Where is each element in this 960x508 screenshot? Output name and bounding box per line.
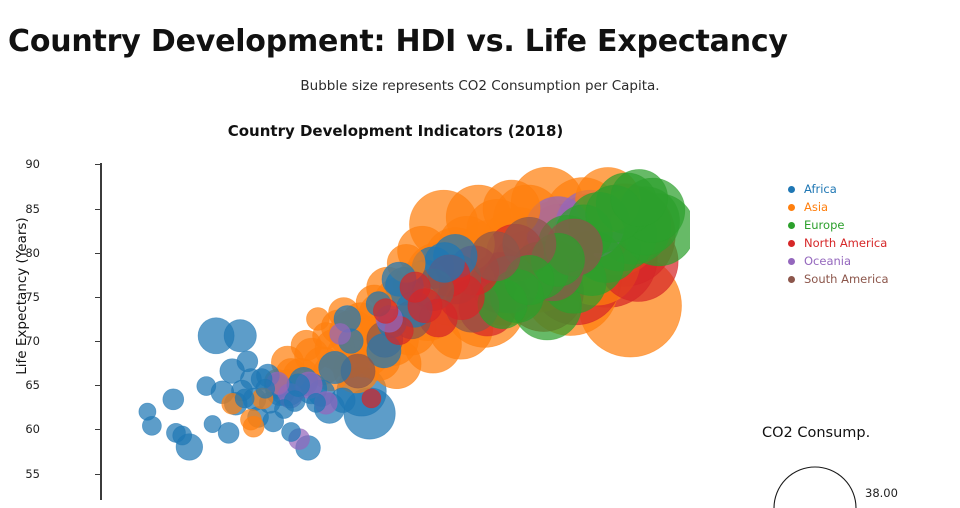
bubble-point[interactable] [224,320,256,352]
bubble-point[interactable] [373,299,398,324]
bubble-point[interactable] [237,351,258,372]
y-axis-label: Life Expectancy (Years) [14,206,30,386]
legend-dot-icon [788,204,795,211]
legend-dot-icon [788,276,795,283]
y-tick-mark [95,209,101,210]
legend-dot-icon [788,186,795,193]
size-legend-circle [740,448,960,508]
bubble-point[interactable] [173,426,192,445]
size-legend: CO2 Consump. 38.00 [740,420,960,500]
bubble-point[interactable] [306,308,329,331]
legend-item[interactable]: Europe [788,216,953,234]
legend-label: South America [804,272,889,286]
legend-label: North America [804,236,887,250]
legend-label: Europe [804,218,844,232]
bubble-point[interactable] [471,232,520,281]
legend-item[interactable]: Asia [788,198,953,216]
bubble-point[interactable] [282,423,301,442]
bubble-point[interactable] [139,403,156,420]
legend-label: Asia [804,200,828,214]
y-tick-label: 90 [0,157,40,171]
bubble-point[interactable] [425,242,465,282]
page-subtitle: Bubble size represents CO2 Consumption p… [0,78,960,94]
legend-label: Africa [804,182,837,196]
y-tick-mark [95,385,101,386]
bubble-plot-area[interactable] [101,160,690,500]
legend-item[interactable]: South America [788,270,953,288]
legend-item[interactable]: Africa [788,180,953,198]
region-legend[interactable]: AfricaAsiaEuropeNorth AmericaOceaniaSout… [788,180,953,288]
chart-title: Country Development Indicators (2018) [101,122,690,140]
chart-page: Country Development: HDI vs. Life Expect… [0,0,960,500]
bubble-point[interactable] [243,416,264,437]
y-tick-mark [95,164,101,165]
y-tick-label: 60 [0,422,40,436]
bubble-point[interactable] [256,379,275,398]
bubble-point[interactable] [163,389,184,410]
y-tick-mark [95,253,101,254]
y-axis-line [100,163,102,500]
legend-dot-icon [788,240,795,247]
bubble-point[interactable] [235,389,254,408]
bubble-point[interactable] [204,416,221,433]
bubble-point[interactable] [307,393,326,412]
legend-dot-icon [788,222,795,229]
bubble-point[interactable] [274,400,293,419]
y-tick-label: 55 [0,467,40,481]
legend-label: Oceania [804,254,851,268]
size-legend-title: CO2 Consump. [762,425,870,441]
y-tick-mark [95,297,101,298]
bubble-point[interactable] [611,169,668,226]
y-tick-mark [95,474,101,475]
legend-item[interactable]: North America [788,234,953,252]
bubble-point[interactable] [400,272,430,302]
bubble-point[interactable] [197,377,216,396]
size-legend-value: 38.00 [865,486,898,500]
legend-item[interactable]: Oceania [788,252,953,270]
y-tick-mark [95,341,101,342]
bubble-point[interactable] [330,324,351,345]
y-tick-mark [95,429,101,430]
bubble-point[interactable] [362,389,381,408]
page-title: Country Development: HDI vs. Life Expect… [8,24,788,59]
legend-dot-icon [788,258,795,265]
bubble-scatter-svg [101,160,690,500]
